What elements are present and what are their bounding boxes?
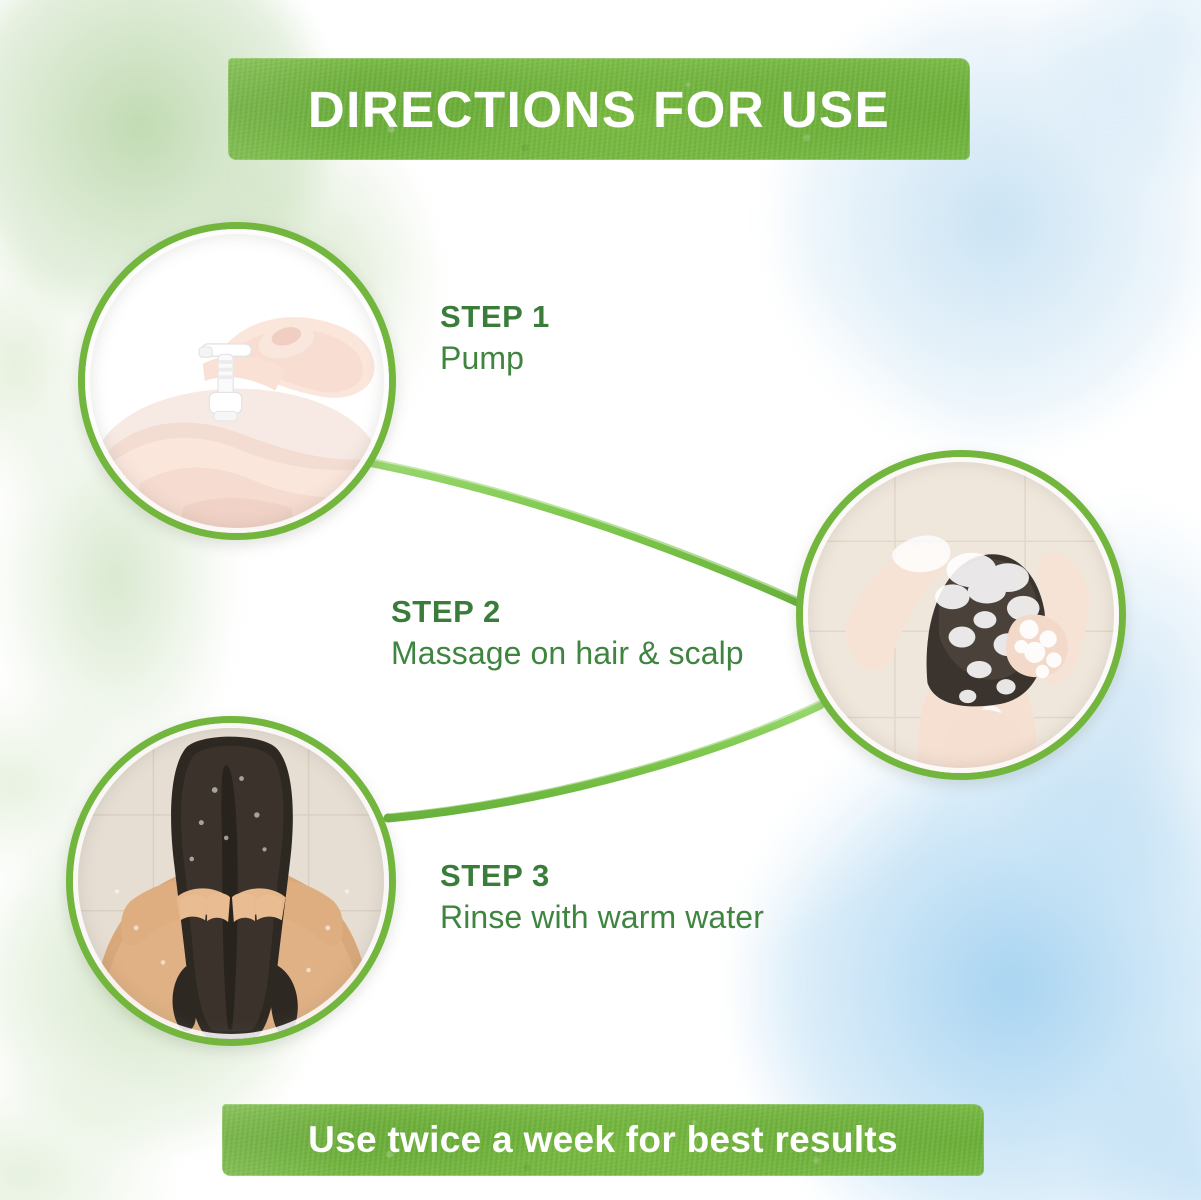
step-3-label: STEP 3 [440, 859, 764, 894]
hands-pressing-pump-dispenser-icon [85, 229, 389, 533]
step-1-description: Pump [440, 339, 550, 377]
step-2-description: Massage on hair & scalp [391, 634, 744, 672]
connector-step1-to-step2-highlight [356, 456, 798, 598]
footer-note: Use twice a week for best results [308, 1119, 898, 1161]
step-3-photo [73, 723, 389, 1039]
footer-banner: Use twice a week for best results [222, 1104, 984, 1176]
massaging-lather-into-hair-icon [803, 457, 1119, 773]
step-2-text-block: STEP 2 Massage on hair & scalp [391, 595, 744, 672]
step-3-image-circle [66, 716, 396, 1046]
directions-for-use-infographic: DIRECTIONS FOR USE [0, 0, 1201, 1200]
step-2-image-circle [796, 450, 1126, 780]
step-3-text-block: STEP 3 Rinse with warm water [440, 859, 764, 936]
connector-step2-to-step3 [388, 705, 820, 818]
rinsing-long-wet-hair-icon [73, 723, 389, 1039]
step-3-description: Rinse with warm water [440, 898, 764, 936]
title-banner: DIRECTIONS FOR USE [228, 58, 970, 160]
connector-step2-to-step3-highlight [390, 701, 820, 813]
step-1-photo [85, 229, 389, 533]
step-2-label: STEP 2 [391, 595, 744, 630]
step-1-text-block: STEP 1 Pump [440, 300, 550, 377]
step-1-image-circle [78, 222, 396, 540]
connector-step1-to-step2 [352, 459, 800, 603]
step-2-photo [803, 457, 1119, 773]
step-1-label: STEP 1 [440, 300, 550, 335]
page-title: DIRECTIONS FOR USE [308, 80, 890, 139]
